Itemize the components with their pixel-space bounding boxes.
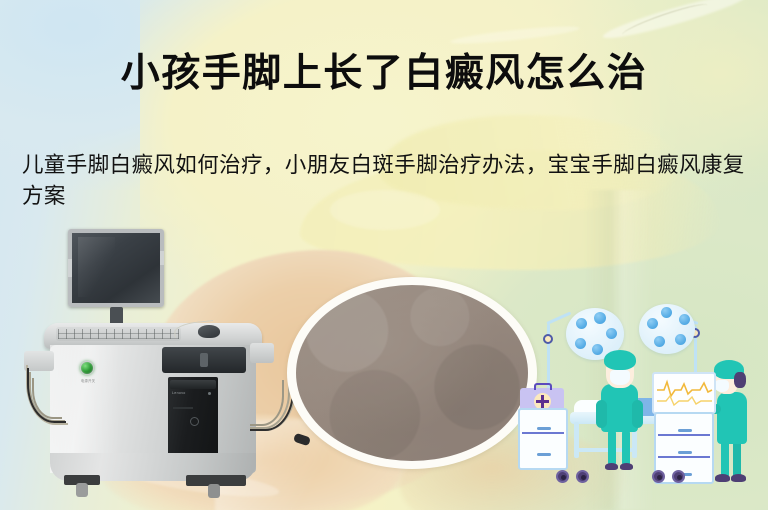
cart-monitor-screen	[68, 229, 164, 307]
surgeon-body	[717, 392, 747, 444]
cart-wheel	[652, 470, 665, 483]
panel-slot	[200, 353, 208, 367]
poster-canvas: 小孩手脚上长了白癜风怎么治 儿童手脚白癜风如何治疗，小朋友白斑手脚治疗办法，宝宝…	[0, 0, 768, 510]
surgeon-mask	[715, 380, 729, 392]
lamp-bulb	[592, 344, 603, 355]
cart-side-shelf-right	[250, 343, 274, 363]
drawer-handle	[678, 451, 692, 454]
surgeon-leg	[622, 430, 630, 466]
drawer-handle	[537, 453, 551, 456]
surgeon-arm	[596, 400, 607, 428]
pc-power-button	[190, 417, 199, 426]
lamp-bulb	[594, 312, 606, 324]
operating-room-illustration	[512, 300, 768, 510]
surgeon-arm	[632, 400, 643, 428]
table-leg-left	[574, 422, 579, 458]
cable-bundle-left	[26, 365, 72, 437]
vital-signs-monitor	[652, 372, 716, 414]
page-title: 小孩手脚上长了白癜风怎么治	[0, 52, 768, 97]
cabinet-drawer	[658, 416, 710, 436]
cart-wheel	[672, 470, 685, 483]
surgeon-shoe	[620, 463, 633, 470]
lamp-bulb	[575, 338, 586, 349]
surgeon-leg	[721, 440, 729, 478]
lamp-bulb	[576, 318, 587, 329]
cart-keyboard	[56, 327, 181, 341]
page-subtitle: 儿童手脚白癜风如何治疗，小朋友白斑手脚治疗办法，宝宝手脚白癜风康复方案	[22, 150, 748, 212]
lamp-head	[639, 304, 695, 354]
surgeon-hair	[734, 372, 746, 388]
cross-horizontal	[536, 400, 549, 403]
surgeon-leg	[608, 430, 616, 466]
medicine-cabinet	[518, 408, 568, 470]
power-button	[80, 361, 94, 375]
surgeon-shoe	[731, 474, 746, 482]
skin-lesion-photo	[287, 277, 537, 469]
cart-wheel	[576, 470, 589, 483]
surgeon-leg	[733, 440, 741, 478]
computer-mouse	[198, 325, 220, 338]
cart-caster-left	[76, 483, 88, 497]
surgeon-shoe	[605, 463, 618, 470]
monitor-side-button-left	[68, 259, 72, 277]
pc-brand-label: Lenovo	[172, 391, 186, 395]
pc-tower-top-bay	[170, 380, 216, 389]
pc-power-led	[208, 392, 211, 395]
cabinet-drawer	[522, 414, 564, 434]
lamp-bulb	[654, 336, 665, 347]
surgeon-shoe	[715, 474, 730, 482]
lamp-bulb	[679, 314, 690, 325]
drawer-handle	[537, 427, 551, 430]
lamp-bulb	[647, 318, 658, 329]
cabinet-drawer	[522, 440, 564, 460]
lamp-bulb	[661, 307, 672, 318]
medical-diagnostic-cart: 电源开关 Lenovo	[28, 225, 298, 505]
pc-drive-slot	[173, 407, 193, 409]
surgeon-cap	[604, 350, 636, 370]
oval-photo-content	[296, 285, 528, 461]
kit-handle	[534, 383, 552, 390]
cart-caster-right	[208, 484, 220, 498]
cable-strand	[27, 368, 66, 423]
lamp-joint	[543, 334, 553, 344]
power-button-label: 电源开关	[74, 378, 102, 383]
cart-front-dark-panel	[162, 347, 246, 373]
ecg-waveform-icon	[654, 374, 714, 412]
lamp-bulb	[675, 334, 686, 345]
cart-wheel	[556, 470, 569, 483]
drawer-handle	[678, 429, 692, 432]
monitor-side-button-right	[160, 251, 164, 265]
cabinet-drawer	[658, 438, 710, 458]
lamp-bulb	[606, 328, 617, 339]
surgeon-mask	[610, 370, 630, 385]
